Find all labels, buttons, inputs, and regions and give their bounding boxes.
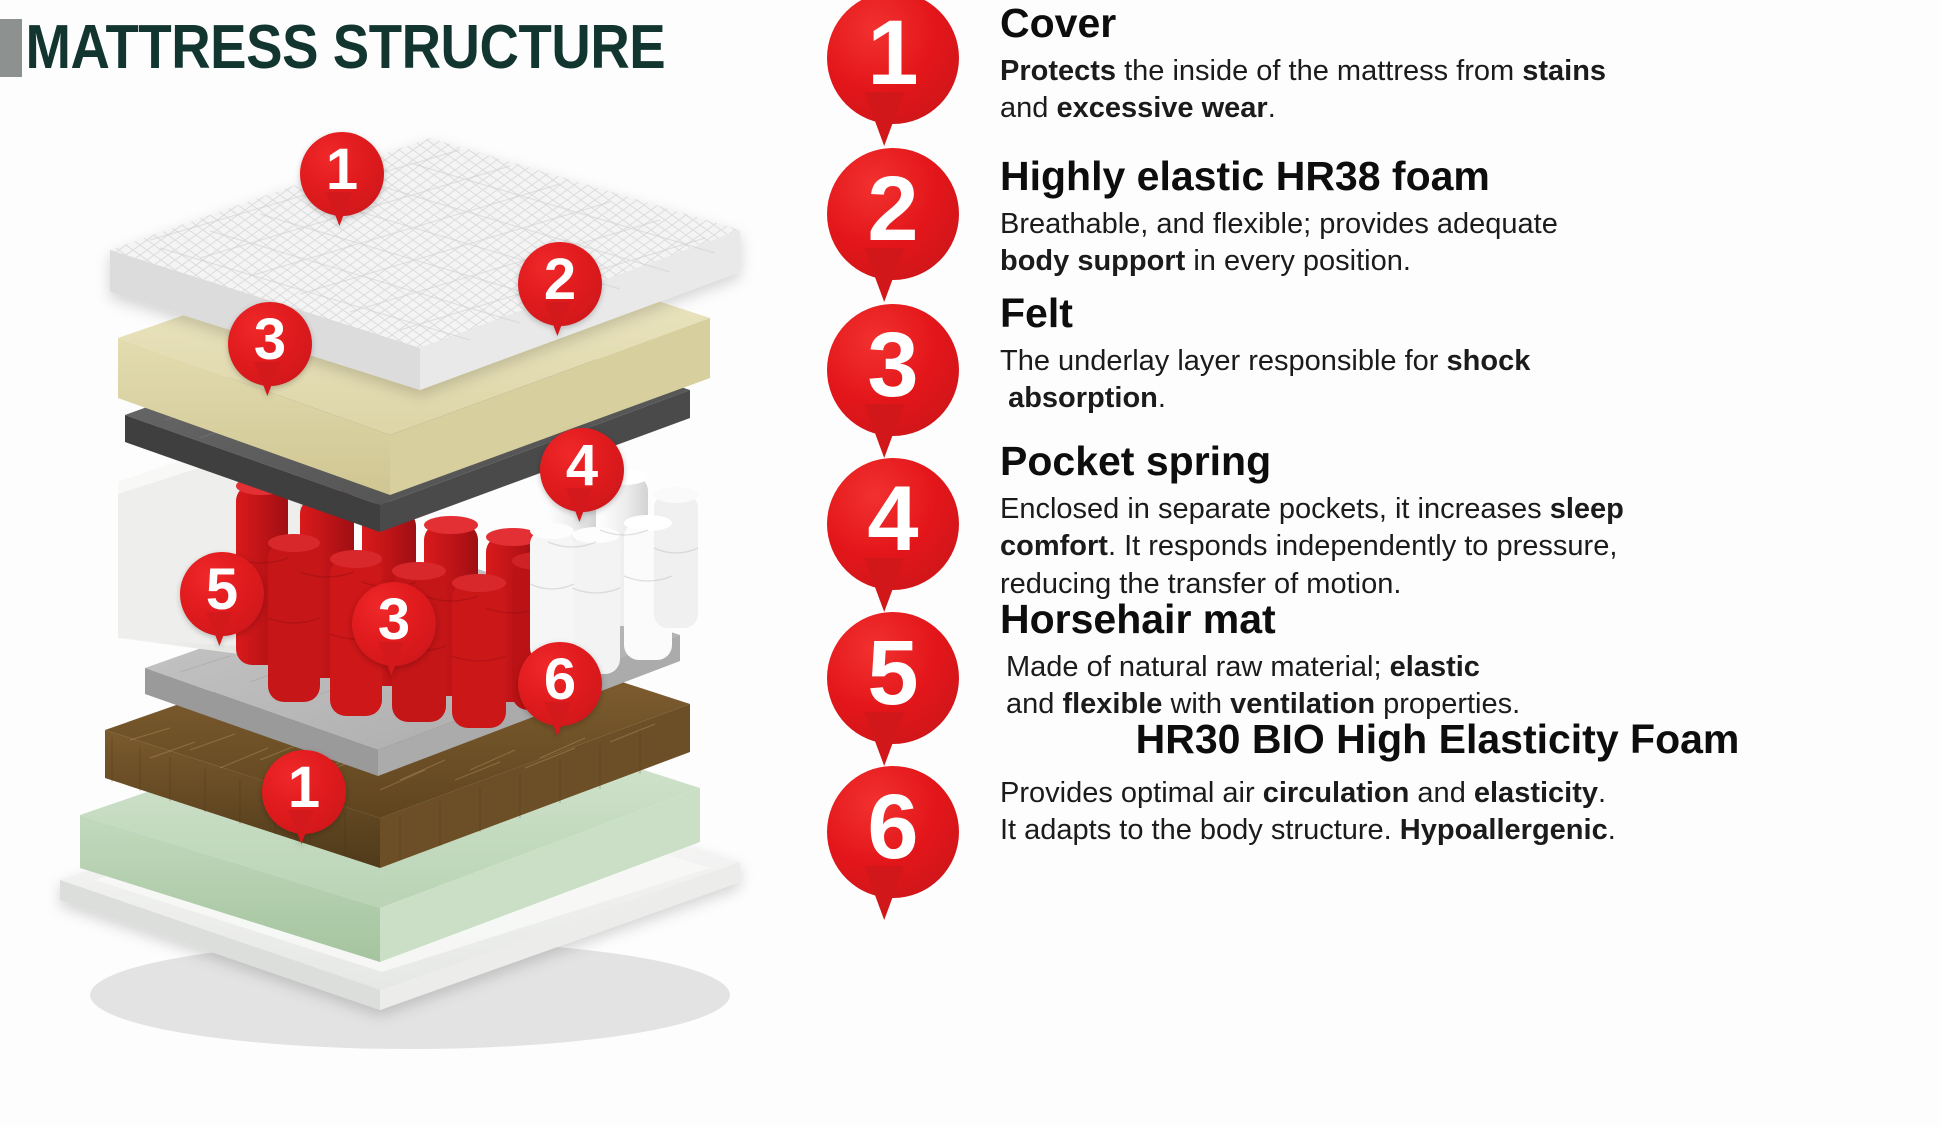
legend-entry-5: Horsehair mat Made of natural raw materi… bbox=[1000, 598, 1935, 724]
legend-text-column: Cover Protects the inside of the mattres… bbox=[1000, 0, 1940, 1127]
illustration-pin-2[interactable]: 2 bbox=[518, 242, 602, 326]
illustration-pin-6[interactable]: 6 bbox=[518, 642, 602, 726]
legend-heading-1: Cover bbox=[1000, 2, 1935, 45]
legend-pin-3[interactable]: 3 bbox=[827, 304, 959, 436]
legend-body-2: Breathable, and flexible; provides adequ… bbox=[1000, 206, 1935, 281]
infographic-page: MATTRESS STRUCTURE bbox=[0, 0, 1940, 1127]
legend-body-4: Enclosed in separate pockets, it increas… bbox=[1000, 491, 1935, 604]
legend-pin-2[interactable]: 2 bbox=[827, 148, 959, 280]
page-title: MATTRESS STRUCTURE bbox=[0, 12, 753, 83]
legend-heading-4: Pocket spring bbox=[1000, 440, 1935, 483]
legend-entry-1: Cover Protects the inside of the mattres… bbox=[1000, 2, 1935, 128]
title-text: MATTRESS STRUCTURE bbox=[22, 12, 665, 83]
illustration-pin-5[interactable]: 5 bbox=[180, 552, 264, 636]
legend-heading-3: Felt bbox=[1000, 292, 1935, 335]
illustration-pin-1-bottom[interactable]: 1 bbox=[262, 750, 346, 834]
legend-entry-6: HR30 BIO High Elasticity Foam Provides o… bbox=[1000, 718, 1935, 850]
legend-pin-6[interactable]: 6 bbox=[827, 766, 959, 898]
legend-body-1: Protects the inside of the mattress from… bbox=[1000, 53, 1935, 128]
legend-body-3: The underlay layer responsible for shock… bbox=[1000, 343, 1935, 418]
legend-heading-6: HR30 BIO High Elasticity Foam bbox=[1000, 718, 1935, 761]
legend-heading-2: Highly elastic HR38 foam bbox=[1000, 155, 1935, 198]
legend-pin-5[interactable]: 5 bbox=[827, 612, 959, 744]
illustration-pin-1-top[interactable]: 1 bbox=[300, 132, 384, 216]
legend-entry-4: Pocket spring Enclosed in separate pocke… bbox=[1000, 440, 1935, 604]
legend-entry-3: Felt The underlay layer responsible for … bbox=[1000, 292, 1935, 418]
legend-body-5: Made of natural raw material; elasticand… bbox=[1000, 649, 1935, 724]
legend-body-6: Provides optimal air circulation and ela… bbox=[1000, 775, 1935, 850]
illustration-pin-3-lower[interactable]: 3 bbox=[352, 582, 436, 666]
legend-pin-4[interactable]: 4 bbox=[827, 458, 959, 590]
illustration-pin-4[interactable]: 4 bbox=[540, 428, 624, 512]
legend-pin-rail: 1 2 3 4 5 6 bbox=[815, 0, 990, 1127]
legend-heading-5: Horsehair mat bbox=[1000, 598, 1935, 641]
legend-entry-2: Highly elastic HR38 foam Breathable, and… bbox=[1000, 155, 1935, 281]
illustration-pin-3-upper[interactable]: 3 bbox=[228, 302, 312, 386]
legend-pin-1[interactable]: 1 bbox=[827, 0, 959, 124]
title-accent-bar bbox=[0, 19, 22, 77]
mattress-illustration: 1 2 3 4 5 3 6 1 bbox=[0, 90, 830, 1127]
